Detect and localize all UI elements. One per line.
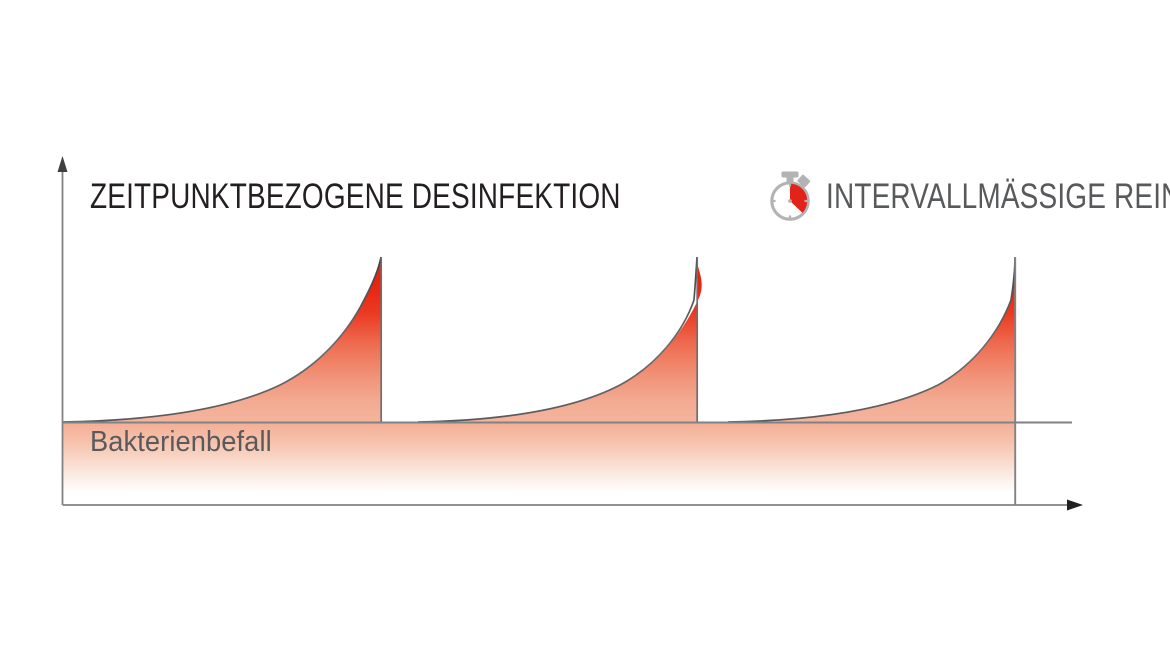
y-axis-arrow-icon	[58, 156, 68, 172]
x-axis-arrow-icon	[1067, 500, 1083, 511]
diagram-canvas: ZEITPUNKTBEZOGENE DESINFEKTION	[0, 0, 1170, 659]
bacteria-load-band	[63, 423, 1015, 493]
growth-curve-cycle-2	[418, 257, 702, 422]
bacteria-growth-chart	[0, 0, 1170, 659]
growth-curve-cycle-1	[63, 257, 381, 422]
growth-curve-cycle-3	[728, 257, 1015, 422]
